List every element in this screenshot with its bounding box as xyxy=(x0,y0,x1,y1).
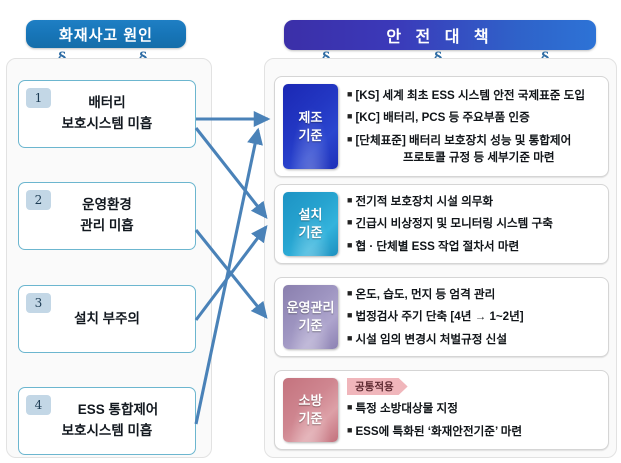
measure-bullet: ■특정 소방대상물 지정 xyxy=(347,398,602,420)
measure-bullet-text: 법정검사 주기 단축 [4년 → 1~2년] xyxy=(355,310,523,323)
measure-bullet-text: 특정 소방대상물 지정 xyxy=(355,402,457,415)
measure-tag-manufacturing-line-2: 기준 xyxy=(299,127,323,145)
bullet-dot-icon: ■ xyxy=(347,89,352,99)
cause-item-2[interactable]: 운영환경 관리 미흡 2 xyxy=(18,182,196,250)
bullet-dot-icon: ■ xyxy=(347,310,352,320)
cause-item-2-badge: 2 xyxy=(26,190,51,210)
bullet-dot-icon: ■ xyxy=(347,288,352,298)
header-safety-measures: 안 전 대 책 xyxy=(284,20,596,50)
measure-bullet-text: 온도, 습도, 먼지 등 엄격 관리 xyxy=(355,288,495,301)
measure-list-manufacturing: ■[KS] 세계 최초 ESS 시스템 안전 국제표준 도입 ■[KC] 배터리… xyxy=(347,77,602,176)
measure-bullet: ■[KS] 세계 최초 ESS 시스템 안전 국제표준 도입 xyxy=(347,84,602,106)
cause-item-1-badge: 1 xyxy=(26,88,51,108)
measure-row-manufacturing[interactable]: 제조 기준 ■[KS] 세계 최초 ESS 시스템 안전 국제표준 도입 ■[K… xyxy=(274,76,609,177)
measure-bullet: ■전기적 보호장치 시설 의무화 xyxy=(347,190,602,212)
measure-tag-manufacturing-line-1: 제조 xyxy=(299,109,323,127)
cause-item-4-line-2: 보호시스템 미흡 xyxy=(62,421,153,442)
cause-item-2-line-2: 관리 미흡 xyxy=(80,216,133,237)
measure-bullet-continuation: 프로토콜 규정 등 세부기준 마련 xyxy=(347,149,602,166)
measure-tag-operation-line-2: 기준 xyxy=(299,317,323,335)
bullet-dot-icon: ■ xyxy=(347,240,352,250)
cause-item-4[interactable]: ESS 통합제어 보호시스템 미흡 4 xyxy=(18,387,196,455)
measure-tag-installation-line-1: 설치 xyxy=(299,206,323,224)
bullet-dot-icon: ■ xyxy=(347,402,352,412)
infographic-root: 화재사고 원인 안 전 대 책 § § § § § 배터리 보호시스템 미흡 1… xyxy=(0,0,621,463)
measure-bullet-text: [KS] 세계 최초 ESS 시스템 안전 국제표준 도입 xyxy=(355,89,585,102)
cause-item-4-badge: 4 xyxy=(26,395,51,415)
bullet-dot-icon: ■ xyxy=(347,195,352,205)
bullet-dot-icon: ■ xyxy=(347,134,352,144)
measure-bullet-text: 전기적 보호장치 시설 의무화 xyxy=(355,195,493,208)
bullet-dot-icon: ■ xyxy=(347,217,352,227)
cause-item-4-line-1: ESS 통합제어 xyxy=(56,400,158,421)
measure-bullet: ■협 · 단체별 ESS 작업 절차서 마련 xyxy=(347,235,602,257)
cause-item-2-line-1: 운영환경 xyxy=(82,195,132,216)
measure-tag-firefighting-line-2: 기준 xyxy=(299,410,323,428)
measure-list-installation: ■전기적 보호장치 시설 의무화 ■긴급시 비상정지 및 모니터링 시스템 구축… xyxy=(347,185,602,263)
cause-item-3-badge: 3 xyxy=(26,293,51,313)
measure-tag-installation-line-2: 기준 xyxy=(299,224,323,242)
measure-bullet: ■긴급시 비상정지 및 모니터링 시스템 구축 xyxy=(347,213,602,235)
measure-bullet-text: 협 · 단체별 ESS 작업 절차서 마련 xyxy=(355,240,519,253)
cause-item-3[interactable]: 설치 부주의 3 xyxy=(18,285,196,353)
measure-tag-operation: 운영관리 기준 xyxy=(283,285,338,349)
measure-tag-installation: 설치 기준 xyxy=(283,192,338,256)
bullet-dot-icon: ■ xyxy=(347,425,352,435)
measure-row-operation[interactable]: 운영관리 기준 ■온도, 습도, 먼지 등 엄격 관리 ■법정검사 주기 단축 … xyxy=(274,277,609,357)
bullet-dot-icon: ■ xyxy=(347,333,352,343)
measure-bullet: ■[KC] 배터리, PCS 등 주요부품 인증 xyxy=(347,107,602,129)
measure-bullet: ■온도, 습도, 먼지 등 엄격 관리 xyxy=(347,283,602,305)
measure-bullet-text: 시설 임의 변경시 처벌규정 신설 xyxy=(355,333,507,346)
cause-item-1[interactable]: 배터리 보호시스템 미흡 1 xyxy=(18,80,196,148)
measure-tag-firefighting: 소방 기준 xyxy=(283,378,338,442)
measure-tag-firefighting-line-1: 소방 xyxy=(299,392,323,410)
measure-bullet: ■법정검사 주기 단축 [4년 → 1~2년] xyxy=(347,306,602,328)
cause-item-1-line-1: 배터리 xyxy=(88,93,125,114)
measure-bullet: ■[단체표준] 배터리 보호장치 성능 및 통합제어프로토콜 규정 등 세부기준… xyxy=(347,129,602,169)
header-fire-accident-cause: 화재사고 원인 xyxy=(26,20,186,48)
measure-row-firefighting[interactable]: 소방 기준 공통적용 ■특정 소방대상물 지정 ■ESS에 특화된 ‘화재안전기… xyxy=(274,370,609,450)
cause-item-3-line-1: 설치 부주의 xyxy=(74,309,140,330)
measure-bullet-text: [KC] 배터리, PCS 등 주요부품 인증 xyxy=(355,111,529,124)
measure-bullet-text: 긴급시 비상정지 및 모니터링 시스템 구축 xyxy=(355,217,552,230)
measure-list-firefighting: ■특정 소방대상물 지정 ■ESS에 특화된 ‘화재안전기준’ 마련 xyxy=(347,391,602,449)
measure-tag-operation-line-1: 운영관리 xyxy=(287,299,335,317)
measure-bullet: ■시설 임의 변경시 처벌규정 신설 xyxy=(347,328,602,350)
measure-bullet-text: ESS에 특화된 ‘화재안전기준’ 마련 xyxy=(355,425,522,438)
measure-bullet: ■ESS에 특화된 ‘화재안전기준’ 마련 xyxy=(347,420,602,442)
bullet-dot-icon: ■ xyxy=(347,111,352,121)
measure-bullet-text: [단체표준] 배터리 보호장치 성능 및 통합제어 xyxy=(355,134,571,147)
measure-row-installation[interactable]: 설치 기준 ■전기적 보호장치 시설 의무화 ■긴급시 비상정지 및 모니터링 … xyxy=(274,184,609,264)
cause-item-1-line-2: 보호시스템 미흡 xyxy=(62,114,153,135)
measure-tag-manufacturing: 제조 기준 xyxy=(283,84,338,169)
measure-list-operation: ■온도, 습도, 먼지 등 엄격 관리 ■법정검사 주기 단축 [4년 → 1~… xyxy=(347,278,602,356)
